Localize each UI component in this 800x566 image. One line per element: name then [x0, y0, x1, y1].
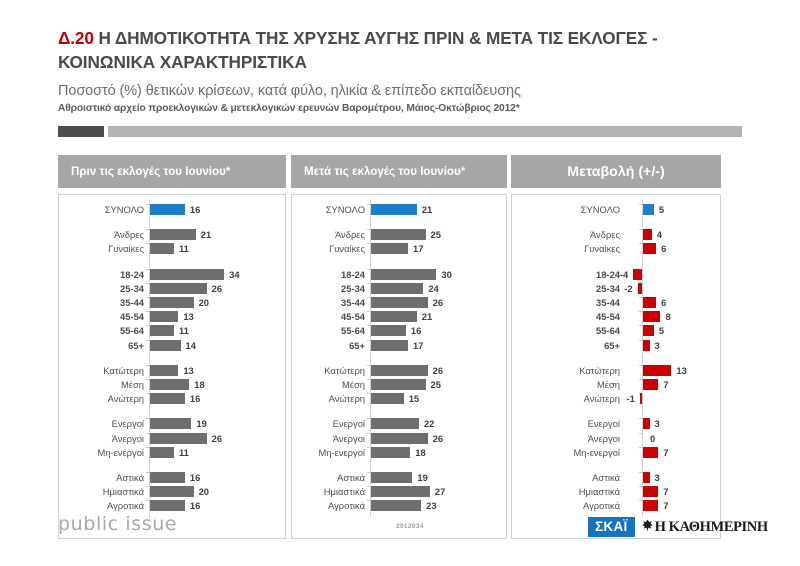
row-label: Άνεργοι [62, 433, 144, 444]
chart-row: Μη-ενεργοί18 [292, 447, 506, 458]
axis-tick [367, 340, 370, 341]
bar-value: 21 [422, 311, 432, 322]
chart-row: Γυναίκες11 [59, 243, 285, 254]
bar [150, 472, 185, 483]
row-label: Ενεργοί [528, 418, 620, 429]
bar [643, 418, 650, 429]
axis-tick [639, 243, 642, 244]
bar-value: 11 [179, 447, 189, 458]
kathimerini-eagle-icon [642, 519, 653, 536]
bar [643, 311, 660, 322]
bar [371, 283, 423, 294]
bar-value: 5 [659, 204, 664, 215]
chart-row: 45-5421 [292, 311, 506, 322]
bar [371, 243, 408, 254]
chart-row: 55-6416 [292, 325, 506, 336]
bar-value: 20 [199, 486, 209, 497]
bar [150, 204, 185, 215]
bar-value: 16 [411, 325, 421, 336]
row-label: Γυναίκες [62, 243, 144, 254]
bar-value: 11 [179, 325, 189, 336]
row-label: Ανώτερη [62, 393, 144, 404]
bar [150, 340, 181, 351]
bar-value: 13 [183, 311, 193, 322]
row-label: Ανώτερη [528, 393, 620, 404]
bar [150, 297, 194, 308]
axis-tick [146, 365, 149, 366]
axis-tick [639, 418, 642, 419]
axis-tick [639, 325, 642, 326]
bar-value: -4 [611, 269, 628, 280]
axis-tick [146, 418, 149, 419]
chart-row: Ανώτερη-1 [512, 393, 720, 404]
chart-row: 35-4426 [292, 297, 506, 308]
row-label: 65+ [62, 340, 144, 351]
bar-value: 4 [657, 229, 662, 240]
chart-after-elections: ΣΥΝΟΛΟ21Άνδρες25Γυναίκες1718-243025-3424… [292, 195, 506, 538]
axis-tick [146, 311, 149, 312]
bar-value: 18 [415, 447, 425, 458]
bar [150, 229, 196, 240]
bar [371, 340, 408, 351]
bar [643, 365, 671, 376]
chart-row: Ανώτερη16 [59, 393, 285, 404]
chart-row: 55-645 [512, 325, 720, 336]
bar [371, 311, 417, 322]
row-label: 35-44 [528, 297, 620, 308]
brand-public-issue: public issue [58, 513, 177, 535]
bar [371, 365, 428, 376]
chart-row: 35-446 [512, 297, 720, 308]
chart-row: Μέση18 [59, 379, 285, 390]
chart-row: Μη-ενεργοί7 [512, 447, 720, 458]
bar [643, 204, 654, 215]
bar-value: 25 [431, 229, 441, 240]
bar [633, 269, 642, 280]
logo-kathimerini: Η ΚΑΘΗΜΕΡΙΝΗ [642, 519, 768, 536]
row-label: Αστικά [295, 472, 365, 483]
bar [150, 269, 224, 280]
panel-header-before: Πριν τις εκλογές του Ιουνίου* [58, 155, 286, 188]
bar-value: 19 [196, 418, 206, 429]
chart-row: Άνεργοι26 [292, 433, 506, 444]
axis-tick [367, 297, 370, 298]
chart-row: Κατώτερη13 [512, 365, 720, 376]
chart-row: Αστικά19 [292, 472, 506, 483]
panel-body-change: ΣΥΝΟΛΟ5Άνδρες4Γυναίκες618-24-425-34-235-… [511, 194, 721, 539]
bar-value: 21 [201, 229, 211, 240]
panel-body-after: ΣΥΝΟΛΟ21Άνδρες25Γυναίκες1718-243025-3424… [291, 194, 507, 539]
row-label: Μέση [62, 379, 144, 390]
row-label: Άνδρες [528, 229, 620, 240]
axis-tick [146, 297, 149, 298]
bar [150, 365, 178, 376]
chart-row: Ενεργοί3 [512, 418, 720, 429]
bar [150, 393, 185, 404]
row-label: 65+ [528, 340, 620, 351]
bar-value: 13 [676, 365, 686, 376]
axis-tick [146, 393, 149, 394]
row-label: Μη-ενεργοί [62, 447, 144, 458]
row-label: 45-54 [528, 311, 620, 322]
axis-tick [146, 229, 149, 230]
row-label: 18-24 [528, 269, 620, 280]
chart-row: 45-548 [512, 311, 720, 322]
axis-tick [146, 340, 149, 341]
axis-tick [639, 229, 642, 230]
bar [643, 243, 656, 254]
bar [371, 229, 426, 240]
chart-row: 25-3426 [59, 283, 285, 294]
chart-row: Αστικά3 [512, 472, 720, 483]
axis-tick [367, 243, 370, 244]
chart-row: Άνδρες25 [292, 229, 506, 240]
title-text: Η ΔΗΜΟΤΙΚΟΤΗΤΑ ΤΗΣ ΧΡΥΣΗΣ ΑΥΓΗΣ ΠΡΙΝ & Μ… [58, 28, 658, 72]
axis-tick [146, 379, 149, 380]
bar [371, 447, 410, 458]
chart-row: Ημιαστικά7 [512, 486, 720, 497]
bar-value: 11 [179, 243, 189, 254]
axis-tick [639, 365, 642, 366]
panel-change: Μεταβολή (+/-) ΣΥΝΟΛΟ5Άνδρες4Γυναίκες618… [511, 155, 721, 539]
bar-value: 17 [413, 340, 423, 351]
axis-tick [146, 243, 149, 244]
row-label: Άνεργοι [295, 433, 365, 444]
bar [371, 297, 428, 308]
bar-value: 6 [661, 297, 666, 308]
bar [371, 204, 417, 215]
chart-row: 35-4420 [59, 297, 285, 308]
axis-tick [146, 325, 149, 326]
bar [150, 243, 174, 254]
row-label: Ενεργοί [62, 418, 144, 429]
row-label: Άνδρες [62, 229, 144, 240]
logo-skai: ΣΚΑΪ [588, 517, 635, 537]
row-label: Μέση [528, 379, 620, 390]
bar [150, 325, 174, 336]
row-label: Γυναίκες [295, 243, 365, 254]
axis-tick [639, 486, 642, 487]
bar [643, 447, 658, 458]
decorative-strip [58, 126, 742, 137]
bar-value: 7 [663, 379, 668, 390]
bar [371, 379, 426, 390]
page-header: Δ.20 Η ΔΗΜΟΤΙΚΟΤΗΤΑ ΤΗΣ ΧΡΥΣΗΣ ΑΥΓΗΣ ΠΡΙ… [58, 26, 758, 114]
bar-value: 3 [655, 472, 660, 483]
panel-before-elections: Πριν τις εκλογές του Ιουνίου* ΣΥΝΟΛΟ16Άν… [58, 155, 286, 539]
page-footer: public issue 2012034 ΣΚΑΪ Η ΚΑΘΗΜΕΡΙΝΗ [0, 505, 800, 565]
panel-after-elections: Μετά τις εκλογές του Ιουνίου* ΣΥΝΟΛΟ21Άν… [291, 155, 507, 539]
chart-row: 25-3424 [292, 283, 506, 294]
bar [371, 486, 430, 497]
bar-value: 16 [190, 204, 200, 215]
row-label: 45-54 [295, 311, 365, 322]
axis-tick [367, 325, 370, 326]
bar [643, 297, 656, 308]
bar [150, 311, 178, 322]
chart-row: Αστικά16 [59, 472, 285, 483]
bar-value: 16 [190, 472, 200, 483]
row-label: ΣΥΝΟΛΟ [62, 204, 144, 215]
row-label: ΣΥΝΟΛΟ [528, 204, 620, 215]
bar [643, 379, 658, 390]
row-label: Κατώτερη [62, 365, 144, 376]
panel-body-before: ΣΥΝΟΛΟ16Άνδρες21Γυναίκες1118-243425-3426… [58, 194, 286, 539]
bar-value: 26 [433, 297, 443, 308]
chart-row: Μέση7 [512, 379, 720, 390]
axis-tick [146, 500, 149, 501]
bar-value: 34 [229, 269, 239, 280]
chart-row: Άνδρες21 [59, 229, 285, 240]
row-label: 55-64 [528, 325, 620, 336]
bar-value: -1 [618, 393, 635, 404]
bar-value: 26 [212, 433, 222, 444]
row-label: Ανώτερη [295, 393, 365, 404]
panel-header-change: Μεταβολή (+/-) [511, 155, 721, 188]
row-label: Κατώτερη [528, 365, 620, 376]
bar [371, 325, 406, 336]
chart-row: 25-34-2 [512, 283, 720, 294]
row-label: 25-34 [295, 283, 365, 294]
chart-row: Κατώτερη13 [59, 365, 285, 376]
row-label: Ενεργοί [295, 418, 365, 429]
bar [150, 379, 189, 390]
bar-value: 26 [433, 433, 443, 444]
panel-header-after: Μετά τις εκλογές του Ιουνίου* [291, 155, 507, 188]
axis-tick [639, 433, 642, 434]
title-code: Δ.20 [58, 28, 94, 48]
bar-value: 27 [435, 486, 445, 497]
chart-row: Άνδρες4 [512, 229, 720, 240]
bar [150, 447, 174, 458]
page-title: Δ.20 Η ΔΗΜΟΤΙΚΟΤΗΤΑ ΤΗΣ ΧΡΥΣΗΣ ΑΥΓΗΣ ΠΡΙ… [58, 26, 758, 74]
bar-value: 20 [199, 297, 209, 308]
chart-row: Ανώτερη15 [292, 393, 506, 404]
subtitle: Ποσοστό (%) θετικών κρίσεων, κατά φύλο, … [58, 82, 758, 100]
bar [371, 433, 428, 444]
axis-tick [367, 204, 370, 205]
axis-tick [146, 486, 149, 487]
chart-row: 18-24-4 [512, 269, 720, 280]
axis-tick [367, 433, 370, 434]
logo-group: ΣΚΑΪ Η ΚΑΘΗΜΕΡΙΝΗ [588, 517, 768, 537]
axis-tick [146, 269, 149, 270]
row-label: 18-24 [295, 269, 365, 280]
axis-tick [367, 393, 370, 394]
row-label: Αστικά [62, 472, 144, 483]
bar-value: 22 [424, 418, 434, 429]
row-label: Ημιαστικά [295, 486, 365, 497]
bar [371, 472, 412, 483]
chart-row: Γυναίκες17 [292, 243, 506, 254]
bar-value: 19 [417, 472, 427, 483]
axis-tick [639, 204, 642, 205]
axis-tick [367, 500, 370, 501]
axis-tick [367, 486, 370, 487]
axis-tick [367, 418, 370, 419]
row-label: Μέση [295, 379, 365, 390]
row-label: 55-64 [295, 325, 365, 336]
bar [638, 283, 642, 294]
chart-row: Ενεργοί22 [292, 418, 506, 429]
bar-value: 16 [190, 393, 200, 404]
axis-tick [367, 311, 370, 312]
chart-row: Ημιαστικά20 [59, 486, 285, 497]
strip-segment-light [108, 126, 742, 137]
row-label: Μη-ενεργοί [528, 447, 620, 458]
chart-before-elections: ΣΥΝΟΛΟ16Άνδρες21Γυναίκες1118-243425-3426… [59, 195, 285, 538]
bar-value: 26 [433, 365, 443, 376]
bar [150, 418, 191, 429]
bar-value: 8 [665, 311, 670, 322]
row-label: 55-64 [62, 325, 144, 336]
axis-tick [367, 447, 370, 448]
chart-row: ΣΥΝΟΛΟ5 [512, 204, 720, 215]
chart-row: Ενεργοί19 [59, 418, 285, 429]
axis-tick [367, 229, 370, 230]
axis-tick [146, 283, 149, 284]
axis-tick [146, 447, 149, 448]
bar [150, 433, 207, 444]
bar-value: 3 [655, 418, 660, 429]
bar [643, 472, 650, 483]
row-label: Ημιαστικά [528, 486, 620, 497]
row-label: Αστικά [528, 472, 620, 483]
bar-value: 7 [663, 447, 668, 458]
chart-row: 45-5413 [59, 311, 285, 322]
bar [371, 269, 436, 280]
source-note: Αθροιστικό αρχείο προεκλογικών & μετεκλο… [58, 103, 758, 114]
bar [371, 393, 404, 404]
chart-row: Κατώτερη26 [292, 365, 506, 376]
row-label: 65+ [295, 340, 365, 351]
bar-value: 13 [183, 365, 193, 376]
chart-row: 18-2434 [59, 269, 285, 280]
logo-kathimerini-text: Η ΚΑΘΗΜΕΡΙΝΗ [655, 519, 768, 536]
row-label: Άνεργοι [528, 433, 620, 444]
bar-value: 15 [409, 393, 419, 404]
bar-value: 26 [212, 283, 222, 294]
bar-value: 24 [428, 283, 438, 294]
chart-row: ΣΥΝΟΛΟ16 [59, 204, 285, 215]
axis-tick [639, 447, 642, 448]
axis-tick [367, 365, 370, 366]
axis-tick [639, 379, 642, 380]
row-label: Μη-ενεργοί [295, 447, 365, 458]
row-label: 45-54 [62, 311, 144, 322]
chart-row: Άνεργοι0 [512, 433, 720, 444]
axis-tick [367, 283, 370, 284]
bar-value: 30 [441, 269, 451, 280]
row-label: Άνδρες [295, 229, 365, 240]
chart-row: 55-6411 [59, 325, 285, 336]
axis-tick [639, 297, 642, 298]
chart-row: Άνεργοι26 [59, 433, 285, 444]
axis-tick [639, 472, 642, 473]
chart-row: 65+17 [292, 340, 506, 351]
row-label: 35-44 [295, 297, 365, 308]
axis-tick [639, 340, 642, 341]
chart-row: 18-2430 [292, 269, 506, 280]
chart-row: 65+3 [512, 340, 720, 351]
bar [150, 486, 194, 497]
chart-row: Ημιαστικά27 [292, 486, 506, 497]
bar-value: 6 [661, 243, 666, 254]
axis-tick [146, 204, 149, 205]
bar [643, 229, 652, 240]
row-label: 35-44 [62, 297, 144, 308]
bar [371, 418, 419, 429]
bar [643, 340, 650, 351]
bar-value: 21 [422, 204, 432, 215]
bar [643, 325, 654, 336]
bar-value: 3 [655, 340, 660, 351]
bar-value: 17 [413, 243, 423, 254]
chart-row: Μη-ενεργοί11 [59, 447, 285, 458]
chart-row: Μέση25 [292, 379, 506, 390]
axis-tick [146, 433, 149, 434]
row-label: Γυναίκες [528, 243, 620, 254]
bar [643, 486, 658, 497]
document-code: 2012034 [396, 523, 424, 530]
bar-value: 7 [663, 486, 668, 497]
row-label: Ημιαστικά [62, 486, 144, 497]
axis-tick [639, 500, 642, 501]
axis-tick [639, 311, 642, 312]
row-label: 25-34 [528, 283, 620, 294]
bar [640, 393, 642, 404]
chart-row: ΣΥΝΟΛΟ21 [292, 204, 506, 215]
row-label: 25-34 [62, 283, 144, 294]
chart-change: ΣΥΝΟΛΟ5Άνδρες4Γυναίκες618-24-425-34-235-… [512, 195, 720, 538]
bar-value: 0 [650, 433, 655, 444]
row-label: 18-24 [62, 269, 144, 280]
bar [150, 283, 207, 294]
bar-value: 14 [186, 340, 196, 351]
axis-tick [367, 472, 370, 473]
bar-value: 18 [194, 379, 204, 390]
row-label: ΣΥΝΟΛΟ [295, 204, 365, 215]
bar-value: 5 [659, 325, 664, 336]
chart-row: Γυναίκες6 [512, 243, 720, 254]
bar-value: -2 [616, 283, 633, 294]
axis-tick [367, 269, 370, 270]
bar-value: 25 [431, 379, 441, 390]
row-label: Κατώτερη [295, 365, 365, 376]
axis-tick [146, 472, 149, 473]
chart-row: 65+14 [59, 340, 285, 351]
axis-tick [367, 379, 370, 380]
strip-segment-dark [58, 126, 104, 137]
